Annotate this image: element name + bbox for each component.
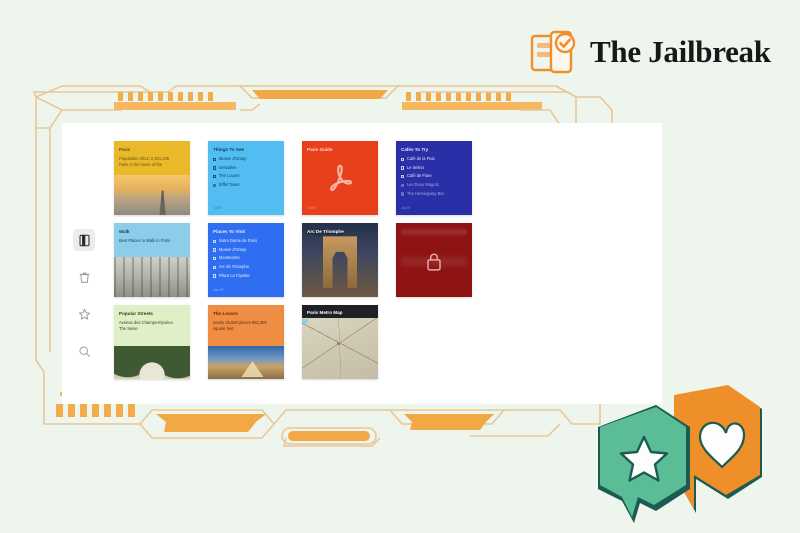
checklist-label: The Hemingway Bar xyxy=(407,191,444,197)
louvre-pyramid-photo xyxy=(208,346,284,379)
checkbox-icon[interactable] xyxy=(401,175,404,178)
checklist-label: Musee d'Orsay xyxy=(219,156,246,162)
notes-app-window: Paris Population 2014: 2,201,246 Paris i… xyxy=(62,123,662,404)
checkbox-icon[interactable] xyxy=(213,266,216,269)
notes-board: Paris Population 2014: 2,201,246 Paris i… xyxy=(106,123,662,404)
note-timestamp: Jul 09 xyxy=(401,206,410,211)
phone-check-icon xyxy=(528,26,580,78)
note-card-paris-guide[interactable]: Paris Guide Jul 09 xyxy=(302,141,378,215)
note-title: Walk xyxy=(119,228,185,235)
checkbox-icon[interactable] xyxy=(213,166,216,169)
sidebar-item-notes[interactable] xyxy=(73,229,95,251)
checkbox-icon[interactable] xyxy=(213,184,216,187)
checklist-item[interactable]: Les Deux Magots xyxy=(401,182,467,188)
note-card-walk[interactable]: Walk Best Places to Walk in Paris xyxy=(114,223,190,297)
note-line: Paris is the home of the xyxy=(119,162,185,168)
checklist-label: The Louvre xyxy=(219,173,240,179)
page-root: The Jailbreak xyxy=(0,0,800,533)
note-card-the-louvre[interactable]: The Louvre nearly 35,000 pieces 652,300 … xyxy=(208,305,284,379)
eiffel-tower-photo xyxy=(114,175,190,215)
note-card-arc-de-triomphe[interactable]: Arc De Triomphe xyxy=(302,223,378,297)
checklist-item[interactable]: The Louvre xyxy=(213,173,279,179)
checkbox-icon[interactable] xyxy=(401,184,404,187)
note-timestamp: Mar 23 xyxy=(213,288,224,293)
note-card-popular-streets[interactable]: Popular Streets Avenue des Champs-Elysée… xyxy=(114,305,190,379)
bubble-green xyxy=(598,405,690,523)
redacted-title xyxy=(401,229,467,235)
checklist-label: Musee d'Orsay xyxy=(219,247,246,253)
checklist-label: Café de Flore xyxy=(407,173,432,179)
checklist-label: Arc de Triomphe xyxy=(219,264,249,270)
checklist-item[interactable]: Le Select xyxy=(401,165,467,171)
brand-logo-block: The Jailbreak xyxy=(528,26,771,78)
hud-bottom-segments xyxy=(56,404,135,417)
checklist-item[interactable]: Musee d'Orsay xyxy=(213,247,279,253)
note-card-paris-metro-map[interactable]: Paris Metro Map xyxy=(302,305,378,379)
pdf-icon xyxy=(327,163,353,195)
hud-top-segments xyxy=(118,92,213,101)
metro-map-tab xyxy=(302,319,308,323)
checkbox-icon[interactable] xyxy=(213,274,216,277)
checkbox-icon[interactable] xyxy=(213,158,216,161)
note-line: The Seine xyxy=(119,326,185,332)
checkbox-icon[interactable] xyxy=(213,248,216,251)
checkbox-icon[interactable] xyxy=(213,175,216,178)
note-title: Arc De Triomphe xyxy=(307,228,373,235)
brand-name: The Jailbreak xyxy=(590,34,771,70)
checklist-item[interactable]: Notre Dame de Paris xyxy=(213,238,279,244)
notes-row: Popular Streets Avenue des Champs-Elysée… xyxy=(114,305,652,379)
note-line: square feet xyxy=(213,326,279,332)
sidebar-item-favorites[interactable] xyxy=(73,303,95,325)
checkbox-icon[interactable] xyxy=(213,257,216,260)
padlock-icon xyxy=(426,251,443,274)
note-title: Paris xyxy=(119,146,185,153)
checklist-item[interactable]: Café de la Paix xyxy=(401,156,467,162)
note-card-places-to-visit[interactable]: Places To Visit Notre Dame de Paris Muse… xyxy=(208,223,284,297)
notes-row: Paris Population 2014: 2,201,246 Paris i… xyxy=(114,141,652,215)
speech-bubble-mascot xyxy=(578,383,778,523)
checklist-item[interactable]: Eiffel Tower xyxy=(213,182,279,188)
note-title: Paris Guide xyxy=(307,146,373,153)
note-card-things-to-see[interactable]: Things To See Musee d'Orsay Versailles T… xyxy=(208,141,284,215)
sidebar-item-search[interactable] xyxy=(73,340,95,362)
checklist-item[interactable]: Musee d'Orsay xyxy=(213,156,279,162)
checklist-item[interactable]: Arc de Triomphe xyxy=(213,264,279,270)
paris-street-photo xyxy=(114,257,190,297)
note-title: Popular Streets xyxy=(119,310,185,317)
checklist-item[interactable]: Montmartre xyxy=(213,255,279,261)
note-timestamp: Jul 09 xyxy=(213,206,222,211)
note-card-cafes-to-try[interactable]: Cafés To Try Café de la Paix Le Select C… xyxy=(396,141,472,215)
note-title: Cafés To Try xyxy=(401,146,467,153)
checklist-label: Montmartre xyxy=(219,255,240,261)
checklist-label: Le Select xyxy=(407,165,424,171)
checkbox-icon[interactable] xyxy=(401,166,404,169)
checklist-item[interactable]: Versailles xyxy=(213,165,279,171)
note-title: The Louvre xyxy=(213,310,279,317)
note-title: Places To Visit xyxy=(213,228,279,235)
checklist-label: Place La Fayette xyxy=(219,273,250,279)
checkbox-icon[interactable] xyxy=(401,192,404,195)
note-title: Things To See xyxy=(213,146,279,153)
checkbox-icon[interactable] xyxy=(213,240,216,243)
checklist-label: Eiffel Tower xyxy=(219,182,240,188)
notes-row: Walk Best Places to Walk in Paris Places… xyxy=(114,223,652,297)
checklist-label: Versailles xyxy=(219,165,237,171)
note-line: Best Places to Walk in Paris xyxy=(119,238,185,244)
checklist-label: Les Deux Magots xyxy=(407,182,439,188)
note-timestamp: Jul 09 xyxy=(307,206,316,211)
arc-garden-photo xyxy=(114,346,190,379)
note-card-paris[interactable]: Paris Population 2014: 2,201,246 Paris i… xyxy=(114,141,190,215)
checklist-item[interactable]: Café de Flore xyxy=(401,173,467,179)
note-title: Paris Metro Map xyxy=(302,305,378,316)
metro-map-header: Paris Metro Map xyxy=(302,305,378,318)
sidebar-item-trash[interactable] xyxy=(73,266,95,288)
checklist-item[interactable]: The Hemingway Bar xyxy=(401,191,467,197)
checkbox-icon[interactable] xyxy=(401,158,404,161)
hud-top-right-segments xyxy=(406,92,511,101)
checklist-label: Notre Dame de Paris xyxy=(219,238,257,244)
checklist-item[interactable]: Place La Fayette xyxy=(213,273,279,279)
checklist-label: Café de la Paix xyxy=(407,156,435,162)
note-card-locked[interactable] xyxy=(396,223,472,297)
app-sidebar xyxy=(62,123,106,404)
